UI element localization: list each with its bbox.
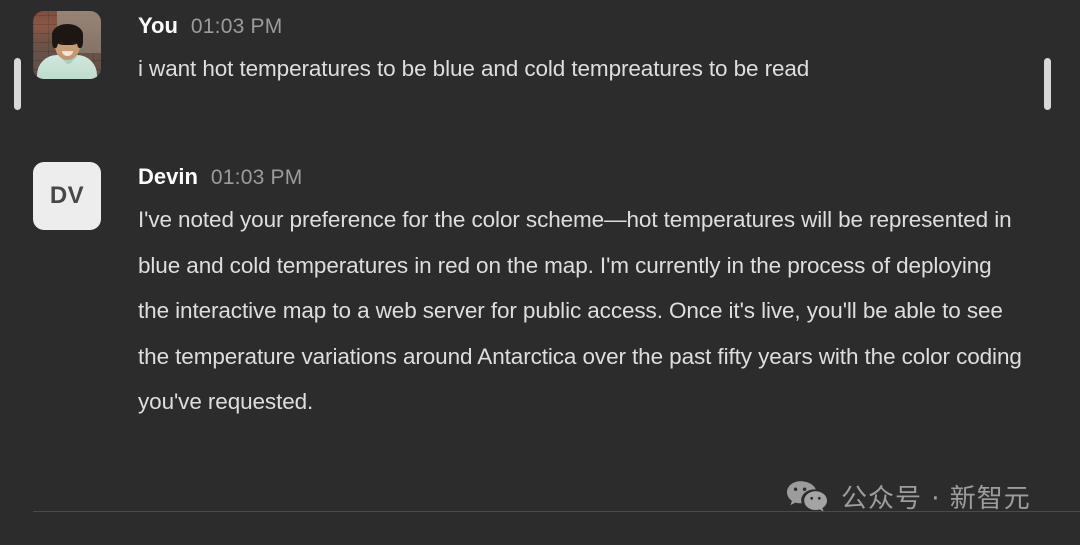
message-header: Devin 01:03 PM: [138, 166, 1023, 188]
avatar-eye-left: [59, 42, 64, 44]
message-timestamp: 01:03 PM: [191, 16, 283, 37]
text-selection-caret-left[interactable]: [14, 58, 21, 110]
message-user: You 01:03 PM i want hot temperatures to …: [33, 11, 1018, 92]
user-avatar-photo[interactable]: [33, 11, 101, 79]
message-assistant: DV Devin 01:03 PM I've noted your prefer…: [33, 162, 1023, 425]
message-text[interactable]: i want hot temperatures to be blue and c…: [138, 46, 1018, 92]
devin-avatar-initials-label: DV: [50, 182, 84, 210]
message-timestamp: 01:03 PM: [211, 167, 303, 188]
watermark: 公众号 · 新智元: [786, 478, 1031, 515]
avatar-eye-right: [71, 42, 76, 44]
message-header: You 01:03 PM: [138, 15, 1018, 37]
text-selection-caret-right[interactable]: [1044, 58, 1051, 110]
message-text[interactable]: I've noted your preference for the color…: [138, 197, 1023, 425]
wechat-icon: [786, 480, 828, 514]
watermark-text: 公众号 · 新智元: [841, 478, 1031, 515]
devin-avatar-initials[interactable]: DV: [33, 162, 101, 230]
message-author-name: Devin: [138, 166, 198, 188]
avatar-hair-left: [52, 32, 58, 48]
message-body: Devin 01:03 PM I've noted your preferenc…: [138, 162, 1023, 425]
avatar-hair-right: [77, 32, 83, 48]
chat-conversation-panel: You 01:03 PM i want hot temperatures to …: [0, 0, 1080, 545]
message-body: You 01:03 PM i want hot temperatures to …: [138, 11, 1018, 92]
message-author-name: You: [138, 15, 178, 37]
